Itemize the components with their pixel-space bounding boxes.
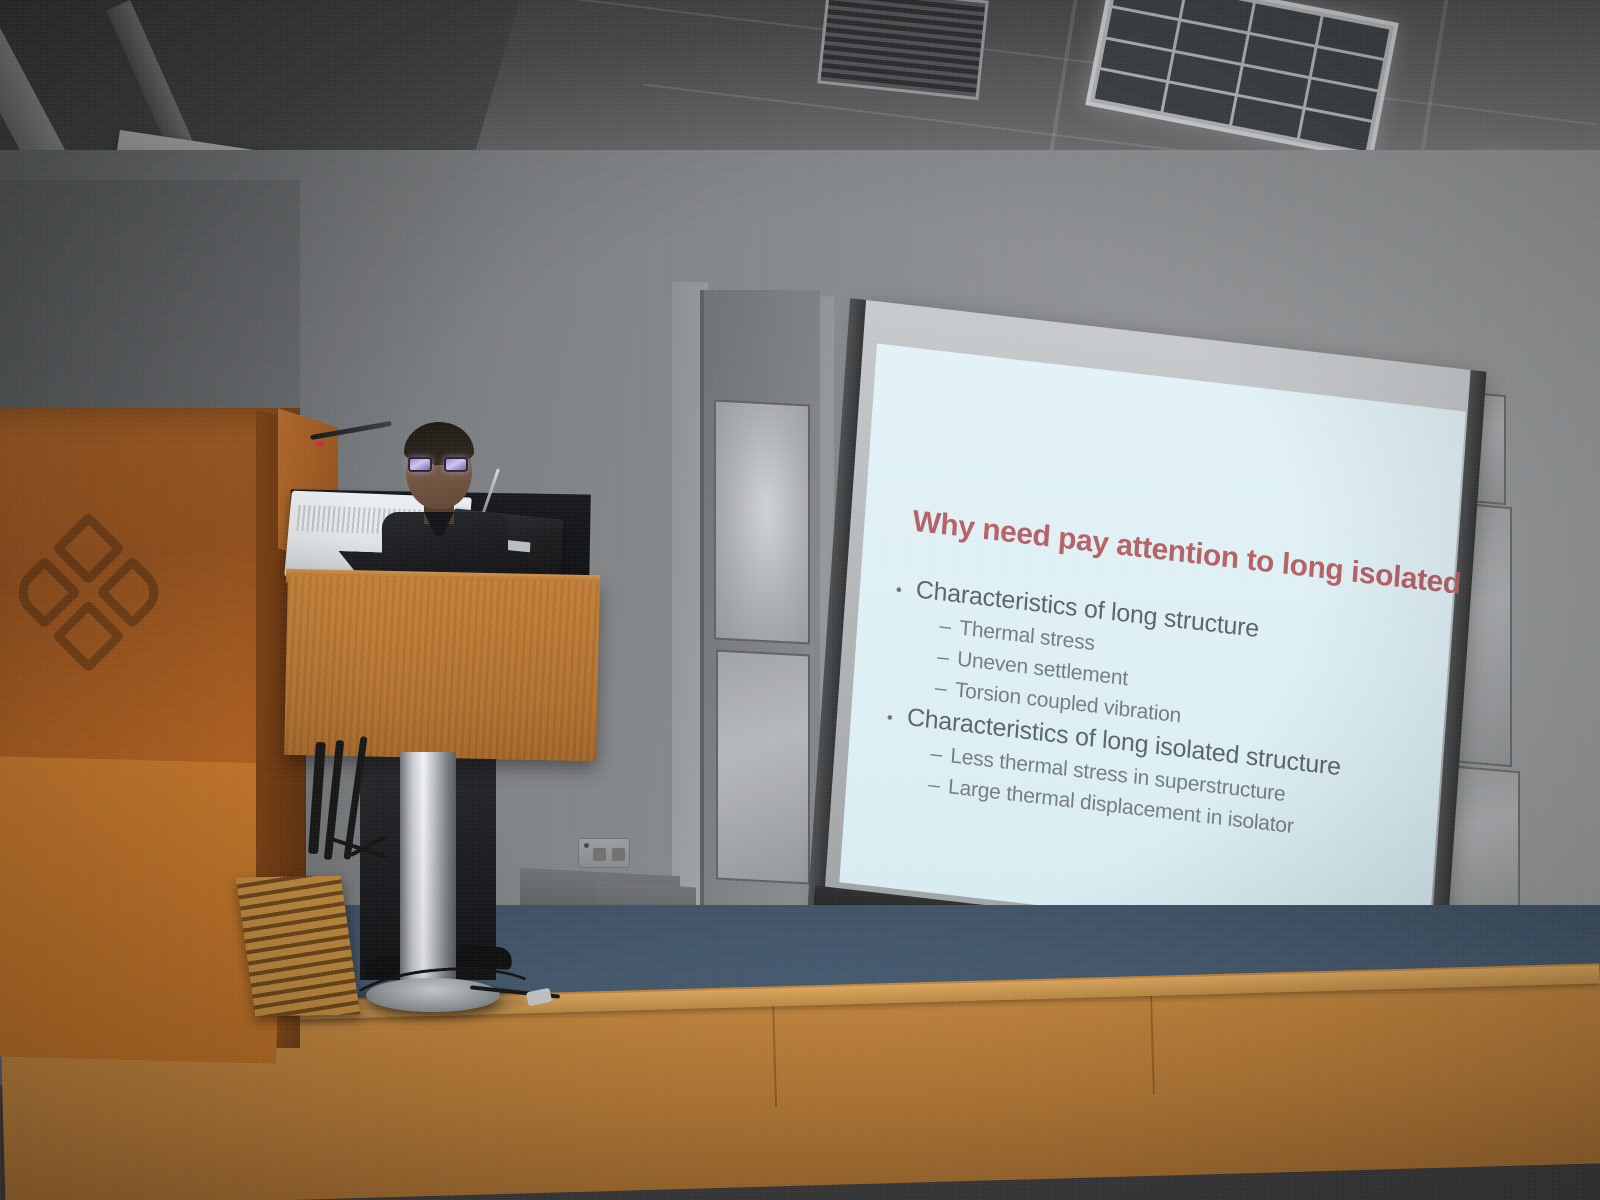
wall-panel-door[interactable] xyxy=(716,650,810,885)
projection-screen: Why need pay attention to long isolated … xyxy=(823,300,1483,990)
socket-outlet-icon xyxy=(612,848,625,861)
dash-marker-icon: – xyxy=(939,614,961,640)
dash-marker-icon: – xyxy=(930,742,952,768)
air-vent-icon xyxy=(817,0,989,100)
slide-body: • Characteristics of long structure – Th… xyxy=(882,567,1443,855)
lectern-front-panel xyxy=(284,575,600,761)
dash-marker-icon: – xyxy=(936,645,958,671)
dash-marker-icon: – xyxy=(927,773,949,799)
screen-surface: Why need pay attention to long isolated … xyxy=(839,344,1465,951)
socket-switch-icon xyxy=(584,843,589,848)
wall-power-socket[interactable] xyxy=(578,838,630,868)
lecture-hall-photo: Why need pay attention to long isolated … xyxy=(0,0,1600,1200)
slide: Why need pay attention to long isolated … xyxy=(862,406,1450,969)
bullet-marker-icon: • xyxy=(895,580,916,602)
presenter-shoe xyxy=(455,944,512,970)
eyeglasses-icon xyxy=(408,457,470,473)
socket-outlet-icon xyxy=(593,848,606,861)
dash-marker-icon: – xyxy=(934,676,956,702)
wall-panel-door[interactable] xyxy=(714,399,810,644)
bullet-marker-icon: • xyxy=(886,708,907,730)
wooden-footrest-grate xyxy=(236,876,360,1016)
lectern-chrome-column xyxy=(400,752,456,1002)
stage-panel-seam xyxy=(1150,984,1155,1094)
stage-panel-seam xyxy=(772,996,777,1106)
